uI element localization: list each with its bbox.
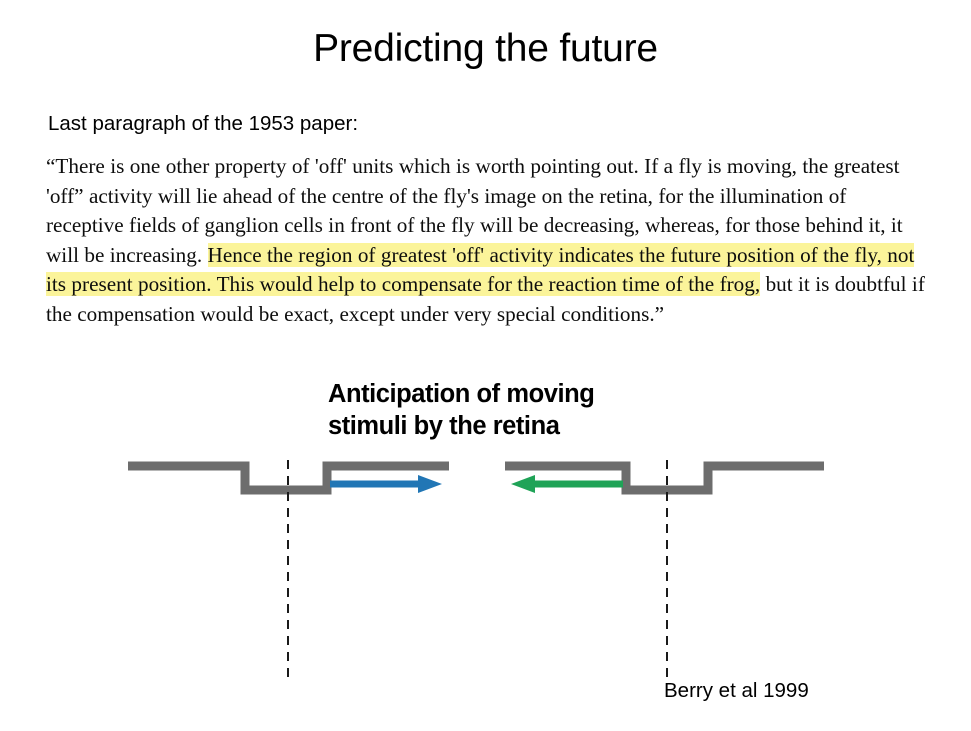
- motion-arrow-left-icon: [511, 475, 623, 493]
- quote-paragraph: “There is one other property of 'off' un…: [46, 152, 926, 330]
- leftward-motion-panel: [505, 460, 824, 678]
- rightward-motion-panel: [128, 460, 449, 678]
- motion-arrow-right-icon: [330, 475, 442, 493]
- figure-anticipation: Anticipation of moving stimuli by the re…: [0, 378, 971, 678]
- citation-text: Berry et al 1999: [664, 678, 809, 704]
- figure-svg: 0 ms: [0, 378, 971, 678]
- intro-text: Last paragraph of the 1953 paper:: [48, 111, 358, 137]
- page-title: Predicting the future: [0, 26, 971, 72]
- quote-open-mark: “: [46, 154, 55, 178]
